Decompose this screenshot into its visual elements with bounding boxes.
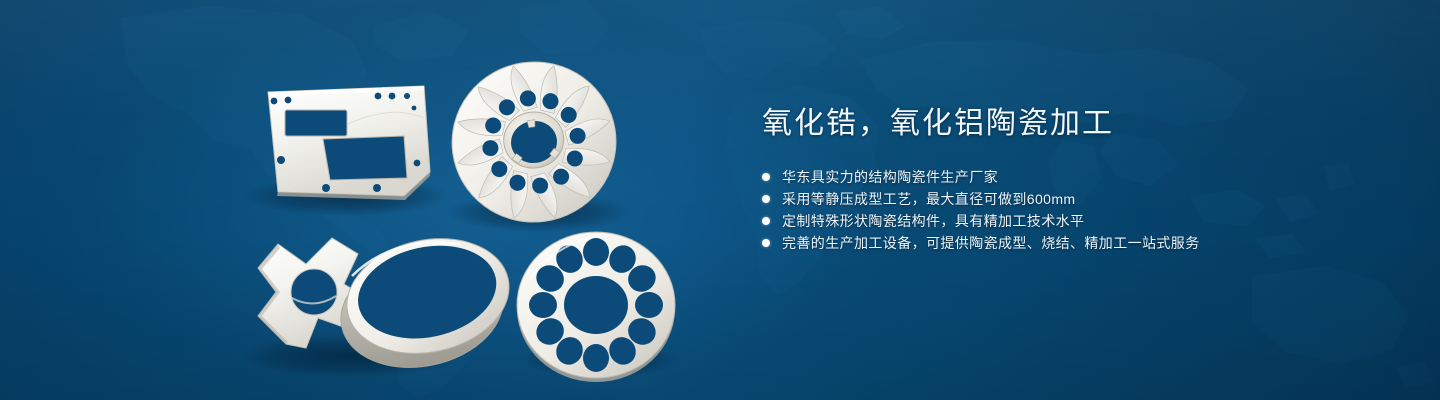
hero-banner: 氧化锆，氧化铝陶瓷加工 华东具实力的结构陶瓷件生产厂家 采用等静压成型工艺，最大… [0,0,1440,400]
bullet-dot-icon [762,173,770,181]
feature-text: 完善的生产加工设备，可提供陶瓷成型、烧结、精加工一站式服务 [782,232,1200,254]
ceramic-perforated-disc-part [517,232,675,382]
banner-headline: 氧化锆，氧化铝陶瓷加工 [762,104,1382,144]
feature-list-item: 采用等静压成型工艺，最大直径可做到600mm [762,188,1382,210]
bullet-dot-icon [762,239,770,247]
feature-text: 采用等静压成型工艺，最大直径可做到600mm [782,188,1075,210]
product-photo-group [0,0,720,400]
feature-text: 定制特殊形状陶瓷结构件，具有精加工技术水平 [782,210,1084,232]
banner-copy: 氧化锆，氧化铝陶瓷加工 华东具实力的结构陶瓷件生产厂家 采用等静压成型工艺，最大… [762,104,1382,254]
feature-list-item: 完善的生产加工设备，可提供陶瓷成型、烧结、精加工一站式服务 [762,232,1382,254]
ceramic-plate-part [268,86,430,200]
bullet-dot-icon [762,195,770,203]
feature-list: 华东具实力的结构陶瓷件生产厂家 采用等静压成型工艺，最大直径可做到600mm 定… [762,166,1382,254]
feature-list-item: 华东具实力的结构陶瓷件生产厂家 [762,166,1382,188]
feature-list-item: 定制特殊形状陶瓷结构件，具有精加工技术水平 [762,210,1382,232]
feature-text: 华东具实力的结构陶瓷件生产厂家 [782,166,998,188]
bullet-dot-icon [762,217,770,225]
